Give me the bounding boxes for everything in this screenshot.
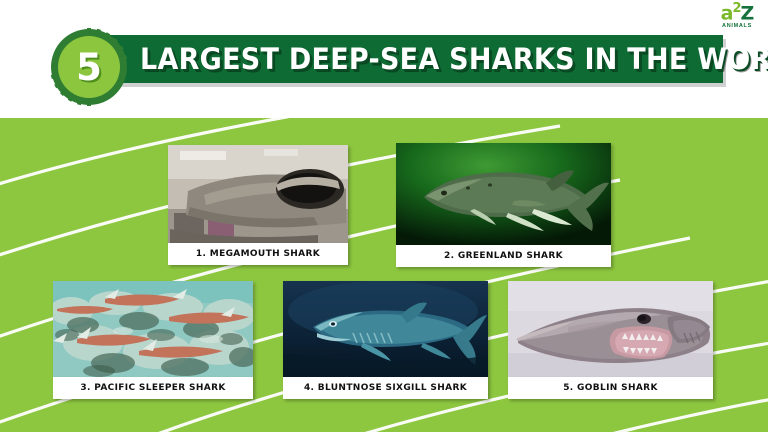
shark-photo-pacific-sleeper xyxy=(53,281,253,377)
shark-caption-1: 1. MEGAMOUTH SHARK xyxy=(168,243,348,265)
shark-caption-3: 3. PACIFIC SLEEPER SHARK xyxy=(53,377,253,399)
shark-card-3[interactable]: 3. PACIFIC SLEEPER SHARK xyxy=(53,281,253,399)
logo-letter-z: Z xyxy=(741,2,754,24)
a2z-animals-logo[interactable]: a2Z ANIMALS xyxy=(714,2,760,28)
shark-card-2[interactable]: 2. GREENLAND SHARK xyxy=(396,143,611,267)
logo-wordmark: ANIMALS xyxy=(714,24,760,30)
logo-letter-two: 2 xyxy=(733,1,741,16)
shark-card-5[interactable]: 5. GOBLIN SHARK xyxy=(508,281,713,399)
shark-card-1[interactable]: 1. MEGAMOUTH SHARK xyxy=(168,145,348,265)
shark-card-4[interactable]: 4. BLUNTNOSE SIXGILL SHARK xyxy=(283,281,488,399)
shark-photo-goblin xyxy=(508,281,713,377)
shark-photo-bluntnose-sixgill xyxy=(283,281,488,377)
logo-mark: a2Z xyxy=(714,2,760,23)
shark-caption-4: 4. BLUNTNOSE SIXGILL SHARK xyxy=(283,377,488,399)
shark-caption-2: 2. GREENLAND SHARK xyxy=(396,245,611,267)
shark-caption-5: 5. GOBLIN SHARK xyxy=(508,377,713,399)
shark-photo-greenland xyxy=(396,143,611,245)
logo-letter-a: a xyxy=(721,2,733,24)
rank-badge-number: 5 xyxy=(50,28,128,106)
rank-badge: 5 xyxy=(50,28,128,106)
shark-photo-megamouth xyxy=(168,145,348,243)
page-title: LARGEST DEEP-SEA SHARKS IN THE WORLD xyxy=(140,36,689,82)
